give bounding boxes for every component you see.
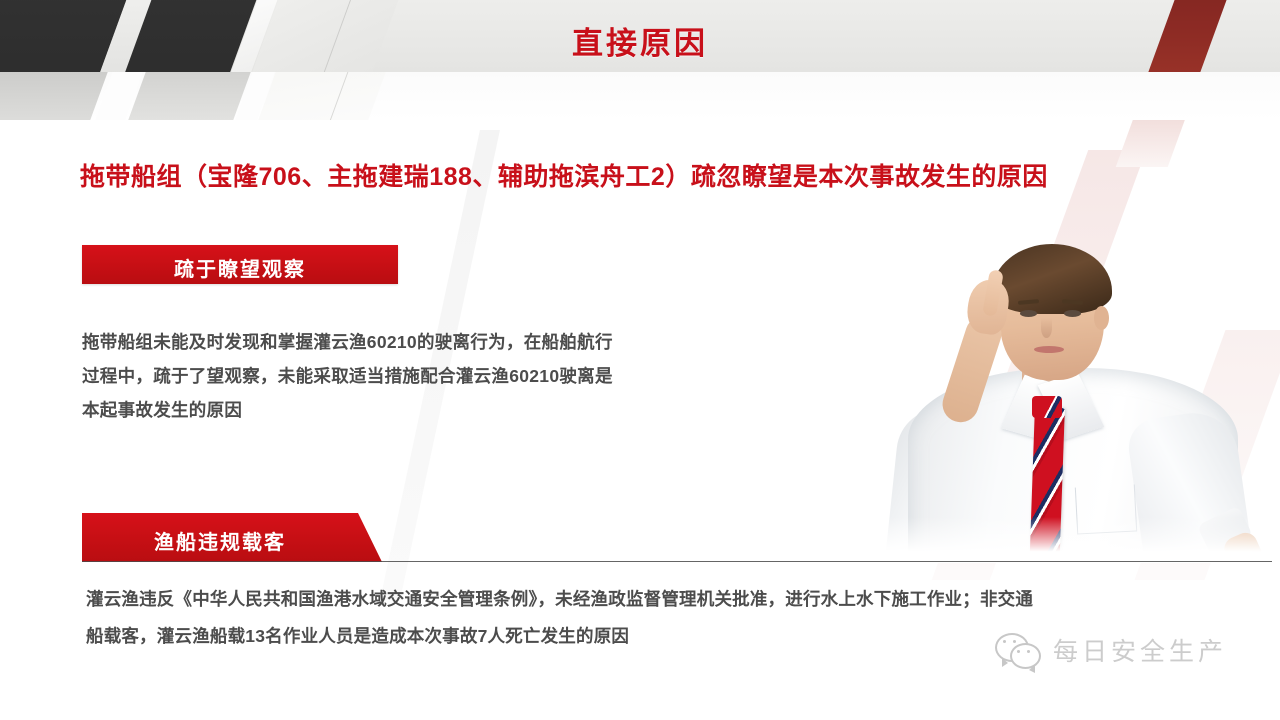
wechat-bubble-small [1010, 643, 1041, 669]
photo-bottom-fade [836, 517, 1280, 563]
photo-necktie-knot [1032, 396, 1062, 418]
section-2-line-1: 灌云渔违反《中华人民共和国渔港水域交通安全管理条例》，未经渔政监督管理机关批准，… [86, 581, 1276, 618]
header-understrip [0, 72, 1280, 120]
understrip-band-1 [0, 72, 111, 120]
section-banner-2: 渔船违规载客 [82, 513, 382, 562]
businessman-photo [836, 218, 1280, 563]
wechat-dot-1 [1003, 640, 1006, 643]
watermark-text: 每日安全生产 [1053, 632, 1227, 668]
section-1-line-1: 拖带船组未能及时发现和掌握灌云渔60210的驶离行为，在船舶航行 [82, 325, 782, 359]
section-banner-1-label: 疏于瞭望观察 [82, 253, 398, 282]
photo-mouth [1034, 346, 1064, 353]
photo-nose [1041, 318, 1052, 338]
section-banner-2-label: 渔船违规载客 [82, 526, 358, 555]
wechat-dot-2 [1013, 640, 1016, 643]
photo-eye-left [1020, 310, 1037, 317]
wechat-dot-3 [1017, 650, 1020, 653]
watermark: 每日安全生产 [995, 632, 1227, 668]
section-banner-1: 疏于瞭望观察 [82, 245, 398, 284]
section-1-line-2: 过程中，疏于了望观察，未能采取适当措施配合灌云渔60210驶离是 [82, 359, 782, 393]
wechat-dot-4 [1027, 650, 1030, 653]
photo-hair [992, 244, 1112, 314]
photo-ear [1094, 306, 1109, 330]
section-divider-rule [82, 561, 1272, 562]
section-1-line-3: 本起事故发生的原因 [82, 393, 782, 427]
section-1-paragraph: 拖带船组未能及时发现和掌握灌云渔60210的驶离行为，在船舶航行 过程中，疏于了… [82, 325, 782, 427]
headline-text: 拖带船组（宝隆706、主拖建瑞188、辅助拖滨舟工2）疏忽瞭望是本次事故发生的原… [80, 157, 1048, 193]
slide-root: 直接原因 拖带船组（宝隆706、主拖建瑞188、辅助拖滨舟工2）疏忽瞭望是本次事… [0, 0, 1280, 720]
wechat-icon [995, 633, 1041, 667]
photo-eye-right [1064, 310, 1081, 317]
page-title: 直接原因 [0, 18, 1280, 63]
